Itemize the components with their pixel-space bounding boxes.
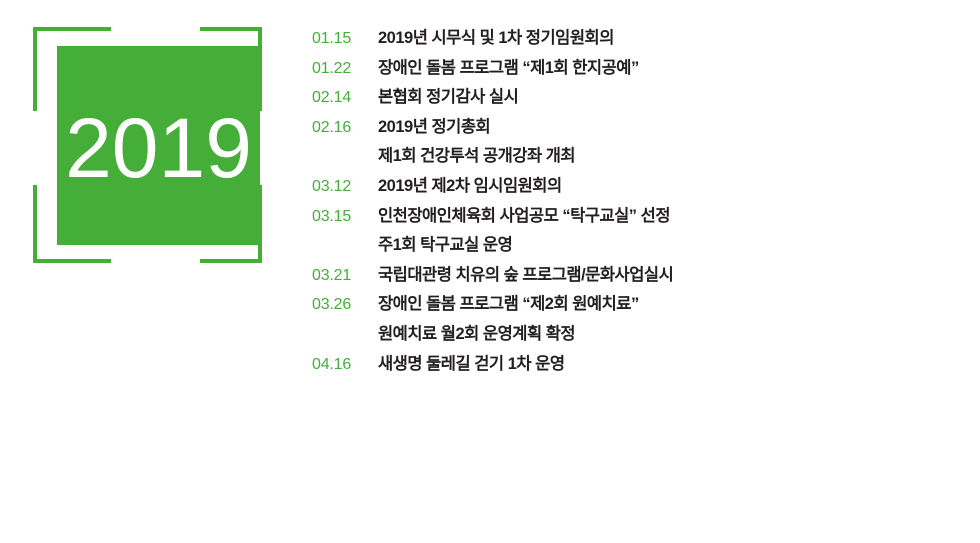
event-date: 03.12 xyxy=(312,178,378,196)
event-date: 03.26 xyxy=(312,296,378,314)
event-row: 제1회 건강투석 공개강좌 개최 xyxy=(312,142,932,172)
event-date: 02.14 xyxy=(312,89,378,107)
event-date: 01.15 xyxy=(312,30,378,48)
event-row: 03.122019년 제2차 임시임원회의 xyxy=(312,172,932,202)
frame-segment-left-bottom xyxy=(33,185,37,263)
event-row: 03.26장애인 돌봄 프로그램 “제2회 원예치료” xyxy=(312,290,932,320)
year-square: 2019 xyxy=(57,46,260,245)
event-date: 03.21 xyxy=(312,267,378,285)
event-date: 03.15 xyxy=(312,208,378,226)
event-title: 본협회 정기감사 실시 xyxy=(378,83,518,107)
event-row: 01.152019년 시무식 및 1차 정기임원회의 xyxy=(312,24,932,54)
event-date: 04.16 xyxy=(312,356,378,374)
event-row: 02.162019년 정기총회 xyxy=(312,113,932,143)
event-row: 주1회 탁구교실 운영 xyxy=(312,231,932,261)
event-row: 02.14본협회 정기감사 실시 xyxy=(312,83,932,113)
event-row: 원예치료 월2회 운영계획 확정 xyxy=(312,320,932,350)
event-row: 03.15인천장애인체육회 사업공모 “탁구교실” 선정 xyxy=(312,202,932,232)
event-title: 인천장애인체육회 사업공모 “탁구교실” 선정 xyxy=(378,202,670,226)
frame-segment-left-top xyxy=(33,27,37,111)
event-title: 2019년 정기총회 xyxy=(378,113,490,137)
event-list: 01.152019년 시무식 및 1차 정기임원회의01.22장애인 돌봄 프로… xyxy=(312,24,932,379)
event-title: 원예치료 월2회 운영계획 확정 xyxy=(378,320,575,344)
event-title: 2019년 제2차 임시임원회의 xyxy=(378,172,562,196)
event-title: 새생명 둘레길 걷기 1차 운영 xyxy=(378,350,565,374)
event-title: 국립대관령 치유의 숲 프로그램/문화사업실시 xyxy=(378,261,673,285)
frame-segment-top-right xyxy=(200,27,262,31)
event-row: 01.22장애인 돌봄 프로그램 “제1회 한지공예” xyxy=(312,54,932,84)
frame-segment-bottom-left xyxy=(33,259,111,263)
event-date: 02.16 xyxy=(312,119,378,137)
event-title: 2019년 시무식 및 1차 정기임원회의 xyxy=(378,24,614,48)
frame-segment-bottom-right xyxy=(200,259,262,263)
year-label: 2019 xyxy=(65,106,252,190)
event-title: 장애인 돌봄 프로그램 “제2회 원예치료” xyxy=(378,290,639,314)
event-row: 03.21국립대관령 치유의 숲 프로그램/문화사업실시 xyxy=(312,261,932,291)
event-title: 주1회 탁구교실 운영 xyxy=(378,231,512,255)
event-title: 장애인 돌봄 프로그램 “제1회 한지공예” xyxy=(378,54,639,78)
event-row: 04.16새생명 둘레길 걷기 1차 운영 xyxy=(312,350,932,380)
event-title: 제1회 건강투석 공개강좌 개최 xyxy=(378,142,575,166)
frame-segment-top-left xyxy=(33,27,111,31)
year-badge: 2019 xyxy=(28,22,268,268)
event-date: 01.22 xyxy=(312,60,378,78)
